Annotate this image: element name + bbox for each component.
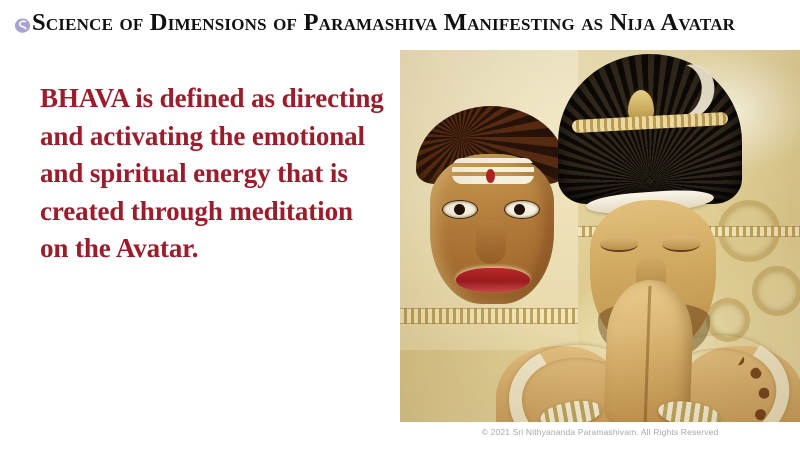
swirl-bullet-icon — [14, 17, 31, 34]
copyright-footer: © 2021 Sri Nithyananda Paramashivam. All… — [400, 427, 800, 437]
body-paragraph: BHAVA is defined as directing and activa… — [40, 80, 385, 268]
page-title: Science of Dimensions of Paramashiva Man… — [32, 11, 735, 36]
image-sepia-tone — [400, 50, 800, 422]
slide-title-bar: Science of Dimensions of Paramashiva Man… — [0, 0, 800, 44]
slide-canvas: Science of Dimensions of Paramashiva Man… — [0, 0, 800, 450]
slide-image — [400, 50, 800, 422]
